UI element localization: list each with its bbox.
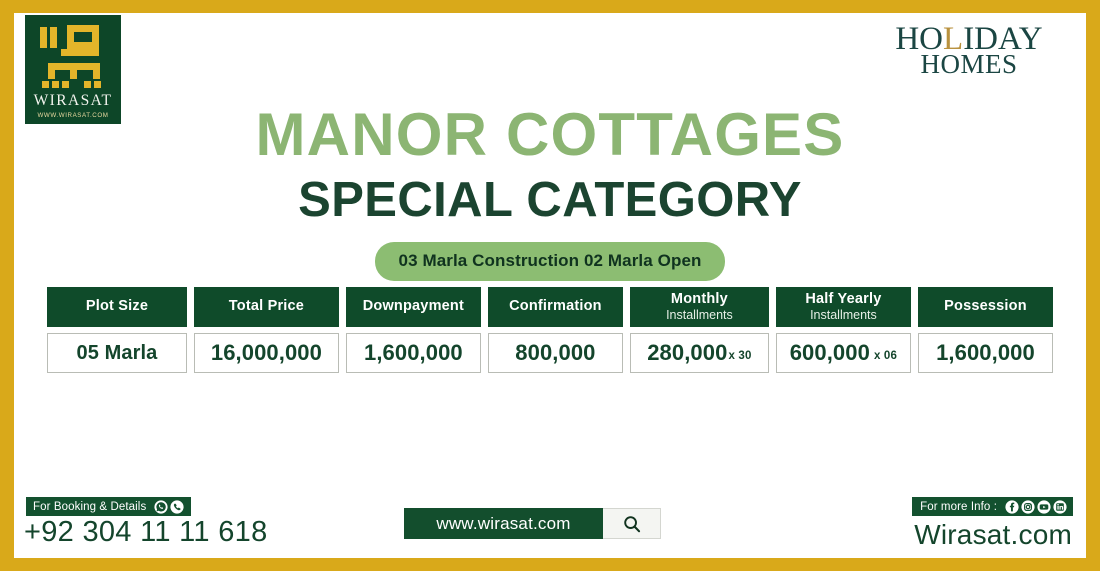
website-url[interactable]: Wirasat.com <box>914 519 1072 551</box>
table-header-cell: Half Yearly Installments <box>776 287 911 327</box>
table-header-label: Possession <box>944 299 1027 314</box>
table-column-possession: Possession 1,600,000 <box>918 287 1053 373</box>
website-search-bar[interactable]: www.wirasat.com <box>404 508 661 539</box>
booking-contact-icons <box>154 500 184 514</box>
table-column-half-yearly-installments: Half Yearly Installments 600,000x 06 <box>776 287 911 373</box>
social-icons <box>1005 500 1067 514</box>
holiday-homes-logo-top: HOLIDAY <box>895 23 1042 56</box>
phone-number[interactable]: +92 304 11 11 618 <box>24 516 268 549</box>
hh-post: IDAY <box>963 21 1042 57</box>
table-header-label: Total Price <box>229 299 304 314</box>
booking-label: For Booking & Details <box>33 501 146 513</box>
whatsapp-icon[interactable] <box>154 500 168 514</box>
table-value-text: 16,000,000 <box>211 340 322 366</box>
table-column-confirmation: Confirmation 800,000 <box>488 287 623 373</box>
table-value-cell: 800,000 <box>488 333 623 373</box>
table-value-cell: 600,000x 06 <box>776 333 911 373</box>
table-value-text: 600,000 <box>790 340 870 366</box>
table-column-plot-size: Plot Size 05 Marla <box>47 287 187 373</box>
table-column-monthly-installments: Monthly Installments 280,000x 30 <box>630 287 769 373</box>
table-header-cell: Monthly Installments <box>630 287 769 327</box>
status-badge: 03 Marla Construction 02 Marla Open <box>375 242 726 281</box>
table-header-cell: Downpayment <box>346 287 481 327</box>
facebook-icon[interactable] <box>1005 500 1019 514</box>
table-column-total-price: Total Price 16,000,000 <box>194 287 339 373</box>
table-header-label: Downpayment <box>363 299 464 314</box>
search-input[interactable]: www.wirasat.com <box>404 508 603 539</box>
table-header-cell: Total Price <box>194 287 339 327</box>
table-header-sublabel: Installments <box>666 309 733 322</box>
table-value-text: 1,600,000 <box>364 340 463 366</box>
hh-pre: HO <box>895 21 943 57</box>
table-column-downpayment: Downpayment 1,600,000 <box>346 287 481 373</box>
table-value-multiplier: x 06 <box>874 350 897 362</box>
table-value-cell: 1,600,000 <box>918 333 1053 373</box>
instagram-icon[interactable] <box>1021 500 1035 514</box>
table-value-cell: 280,000x 30 <box>630 333 769 373</box>
page-subtitle: SPECIAL CATEGORY <box>14 176 1086 225</box>
table-header-cell: Possession <box>918 287 1053 327</box>
promotional-poster: WIRASAT WWW.WIRASAT.COM HOLIDAY HOMES MA… <box>0 0 1100 571</box>
phone-call-icon[interactable] <box>170 500 184 514</box>
wirasat-kufic-monogram-icon <box>34 23 112 91</box>
table-value-text: 05 Marla <box>77 342 158 365</box>
search-icon <box>622 514 642 534</box>
poster-content: WIRASAT WWW.WIRASAT.COM HOLIDAY HOMES MA… <box>14 13 1086 558</box>
headline-block: MANOR COTTAGES SPECIAL CATEGORY 03 Marla… <box>14 105 1086 281</box>
table-value-text: 280,000 <box>647 340 727 366</box>
youtube-icon[interactable] <box>1037 500 1051 514</box>
table-value-cell: 1,600,000 <box>346 333 481 373</box>
linkedin-icon[interactable] <box>1053 500 1067 514</box>
holiday-homes-logo: HOLIDAY HOMES <box>884 23 1054 78</box>
table-header-sublabel: Installments <box>810 309 877 322</box>
table-header-label: Monthly <box>671 292 728 307</box>
more-info-label: For more Info : <box>920 501 997 513</box>
table-header-label: Confirmation <box>509 299 602 314</box>
table-value-multiplier: x 30 <box>728 350 751 362</box>
table-value-cell: 16,000,000 <box>194 333 339 373</box>
search-button[interactable] <box>603 508 661 539</box>
booking-bar: For Booking & Details <box>26 497 191 516</box>
table-header-cell: Confirmation <box>488 287 623 327</box>
pricing-table: Plot Size 05 Marla Total Price 16,000,00… <box>47 287 1053 373</box>
hh-gold-letter: L <box>943 21 963 57</box>
table-header-cell: Plot Size <box>47 287 187 327</box>
more-info-bar: For more Info : <box>912 497 1073 516</box>
table-header-label: Half Yearly <box>805 292 881 307</box>
table-value-text: 1,600,000 <box>936 340 1035 366</box>
table-value-text: 800,000 <box>515 340 595 366</box>
table-value-cell: 05 Marla <box>47 333 187 373</box>
table-header-label: Plot Size <box>86 299 148 314</box>
page-title: MANOR COTTAGES <box>14 105 1086 165</box>
